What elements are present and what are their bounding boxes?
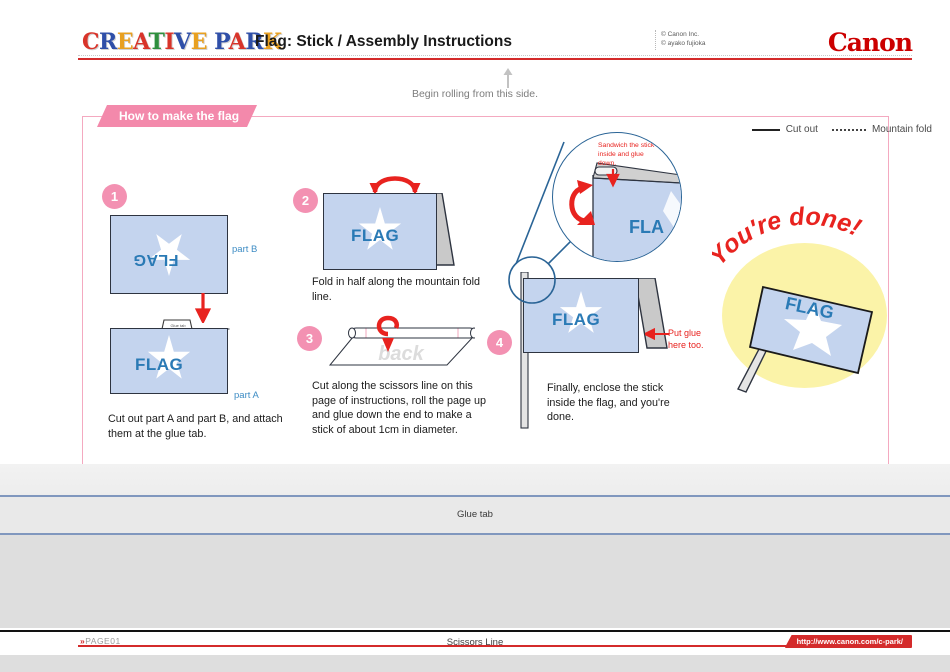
glue-tab-label: Glue tab: [0, 509, 950, 520]
logo-letter: A: [133, 29, 148, 55]
creative-park-logo: CREATIVE PARK: [82, 29, 282, 55]
part-b-flag: FLAG: [110, 215, 228, 294]
lower-grey-area: [0, 535, 950, 628]
logo-letter: E: [191, 29, 207, 55]
magnifier-note: Sandwich the stick inside and glue down.: [598, 141, 660, 168]
logo-letter: E: [117, 29, 133, 55]
header-red-divider: [78, 58, 912, 60]
copyright-canon: © Canon Inc.: [661, 30, 706, 39]
logo-letter: A: [229, 29, 246, 55]
step-badge-4: 4: [487, 330, 512, 355]
step-badge-3: 3: [297, 326, 322, 351]
step-4-caption: Finally, enclose the stick inside the fl…: [547, 381, 687, 425]
magnified-detail-circle: Sandwich the stick inside and glue down.…: [552, 132, 682, 262]
part-a-flag-text: FLAG: [135, 355, 183, 375]
copyright-block: © Canon Inc. © ayako fujioka: [655, 30, 706, 50]
cut-out-line-icon: [752, 129, 780, 131]
footer-black-rule: [0, 630, 950, 632]
finished-flag: [730, 255, 890, 395]
page-header: CREATIVE PARK Flag: Stick / Assembly Ins…: [0, 0, 950, 62]
logo-letter: V: [174, 29, 191, 55]
canon-url-link[interactable]: http://www.canon.com/c-park/: [785, 635, 912, 648]
logo-letter: I: [164, 29, 174, 55]
fold-arrow-icon: [365, 168, 425, 196]
part-b-flag-text: FLAG: [133, 250, 179, 268]
step-2-flag-text: FLAG: [351, 226, 399, 246]
legend-label-cut-out: Cut out: [786, 124, 818, 135]
footer-grey-area: [0, 655, 950, 672]
step-badge-2: 2: [293, 188, 318, 213]
canon-logo: Canon: [828, 28, 912, 57]
logo-letter: R: [99, 29, 117, 55]
page-title: Flag: Stick / Assembly Instructions: [255, 33, 512, 51]
header-dotted-divider: [78, 55, 912, 56]
step-2-flag: FLAG: [323, 193, 437, 270]
logo-letter: T: [148, 29, 164, 55]
roll-hint-text: Begin rolling from this side.: [0, 88, 950, 100]
part-a-flag: FLAG: [110, 328, 228, 394]
step-4-flag-text: FLAG: [552, 310, 600, 330]
part-b-label: part B: [232, 244, 257, 255]
magnifier-flag-text: FLA: [629, 217, 664, 238]
step-badge-1: 1: [102, 184, 127, 209]
legend: Cut out Mountain fold: [752, 124, 932, 135]
part-a-label: part A: [234, 390, 259, 401]
instruction-sheet: CREATIVE PARK Flag: Stick / Assembly Ins…: [0, 0, 950, 672]
copyright-author: © ayako fujioka: [661, 39, 706, 48]
panel-title-tag: How to make the flag: [97, 105, 257, 127]
upper-grey-area: [0, 464, 950, 495]
legend-label-mountain-fold: Mountain fold: [872, 124, 932, 135]
step-4-glue-note: Put glue here too.: [668, 328, 718, 351]
step-1-caption: Cut out part A and part B, and attach th…: [108, 412, 283, 441]
step-3-caption: Cut along the scissors line on this page…: [312, 379, 487, 437]
up-arrow-icon: [503, 68, 513, 88]
mountain-fold-line-icon: [832, 129, 866, 131]
roll-direction-arrow-icon: [374, 312, 402, 354]
logo-letter: P: [214, 29, 228, 55]
logo-letter: C: [82, 29, 99, 55]
step-2-caption: Fold in half along the mountain fold lin…: [312, 275, 492, 304]
